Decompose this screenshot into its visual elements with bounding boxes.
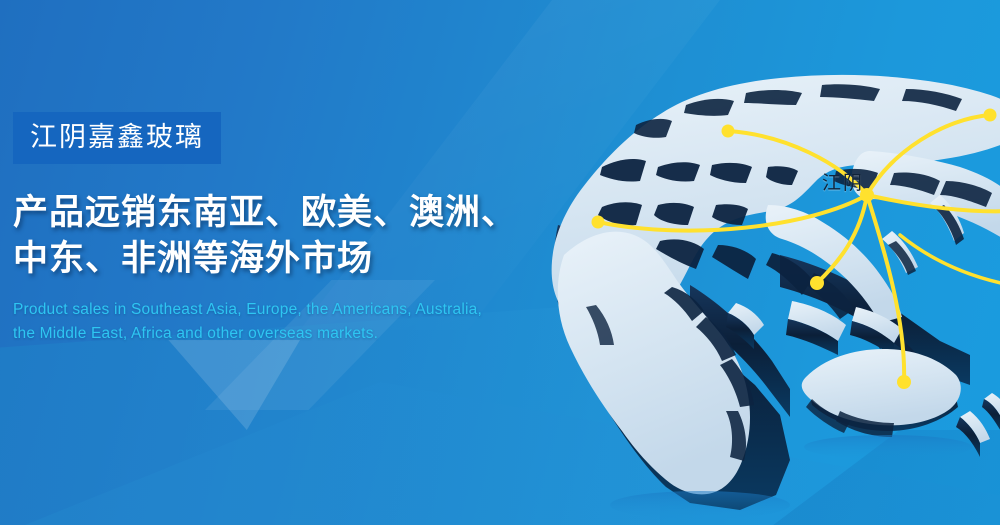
europe-node <box>722 125 735 138</box>
map-city-label: 江阴 <box>822 168 864 195</box>
page-subtitle: Product sales in Southeast Asia, Europe,… <box>13 298 583 346</box>
promo-banner: 江阴 江阴嘉鑫玻璃 产品远销东南亚、欧美、澳洲、 中东、非洲等海外市场 Prod… <box>0 0 1000 525</box>
page-title: 产品远销东南亚、欧美、澳洲、 中东、非洲等海外市场 <box>13 190 583 282</box>
world-map-graphic <box>540 55 1000 485</box>
banner-text-column: 江阴嘉鑫玻璃 产品远销东南亚、欧美、澳洲、 中东、非洲等海外市场 Product… <box>13 112 583 346</box>
australia-node <box>897 375 911 389</box>
route-east-arc-lower <box>900 235 1000 285</box>
southeast-asia-node <box>810 276 824 290</box>
northeast-node <box>984 109 997 122</box>
brand-badge: 江阴嘉鑫玻璃 <box>13 112 221 164</box>
background-facet-triangle-highlight <box>160 340 300 430</box>
africa-node <box>592 216 605 229</box>
